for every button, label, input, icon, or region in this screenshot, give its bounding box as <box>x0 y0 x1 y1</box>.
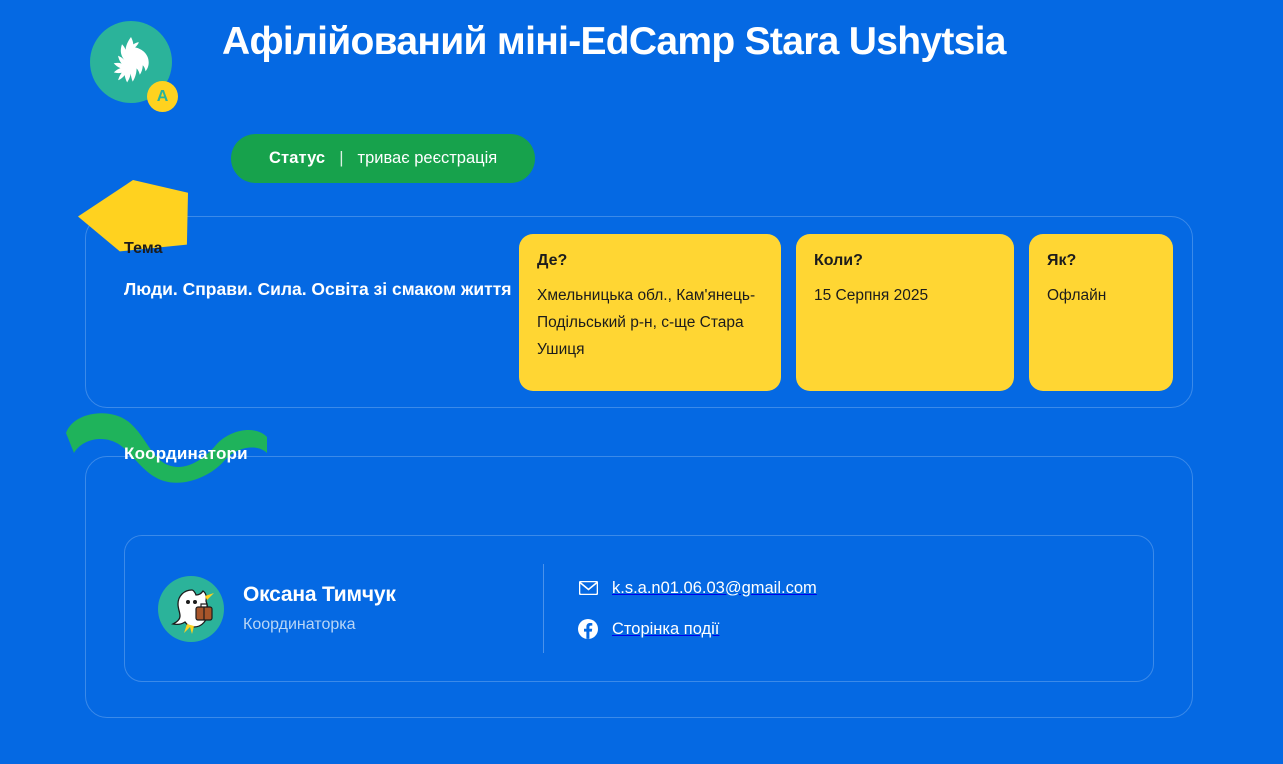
info-card-where: Де? Хмельницька обл., Кам'янець-Подільсь… <box>519 234 781 391</box>
coordinator-card: Оксана Тимчук Координаторка k.s.a.n01.06… <box>124 535 1154 682</box>
edcamp-logo: A <box>90 21 178 109</box>
facebook-icon <box>578 619 598 639</box>
status-badge[interactable]: Статус | триває реєстрація <box>231 134 535 183</box>
coordinator-facebook-text: Сторінка події <box>612 620 719 639</box>
envelope-icon <box>578 578 598 598</box>
bird-with-briefcase-avatar-icon <box>162 580 220 638</box>
info-card-when: Коли? 15 Серпня 2025 <box>796 234 1014 391</box>
affiliated-badge: A <box>147 81 178 112</box>
coordinators-heading: Координатори <box>124 444 248 464</box>
edcamp-sprout-logo-icon <box>105 34 157 90</box>
coordinator-identity: Оксана Тимчук Координаторка <box>243 583 543 634</box>
theme-text: Люди. Справи. Сила. Освіта зі смаком жит… <box>124 275 544 303</box>
info-card-question: Де? <box>537 252 763 270</box>
coordinator-name: Оксана Тимчук <box>243 583 543 607</box>
coordinator-email-link[interactable]: k.s.a.n01.06.03@gmail.com <box>578 578 817 598</box>
coordinator-role: Координаторка <box>243 616 543 634</box>
coordinator-contacts: k.s.a.n01.06.03@gmail.com Сторінка події <box>578 578 817 639</box>
theme-block: Тема Люди. Справи. Сила. Освіта зі смако… <box>124 240 544 303</box>
coordinators-panel: Координатори Оксана Тимчук Координаторка <box>85 456 1193 718</box>
info-card-how: Як? Офлайн <box>1029 234 1173 391</box>
theme-label: Тема <box>124 240 544 258</box>
status-row: Статус | триває реєстрація <box>0 109 1283 183</box>
card-divider <box>543 564 544 653</box>
info-card-list: Де? Хмельницька обл., Кам'янець-Подільсь… <box>519 234 1173 391</box>
info-card-answer: Хмельницька обл., Кам'янець-Подільський … <box>537 282 763 363</box>
info-card-answer: 15 Серпня 2025 <box>814 282 996 309</box>
page-header: A Афілійований міні-EdCamp Stara Ushytsi… <box>0 0 1283 109</box>
status-value-label: триває реєстрація <box>358 149 498 168</box>
coordinator-facebook-link[interactable]: Сторінка події <box>578 619 817 639</box>
status-separator: | <box>339 149 343 168</box>
info-card-question: Коли? <box>814 252 996 270</box>
event-info-panel: Тема Люди. Справи. Сила. Освіта зі смако… <box>85 216 1193 408</box>
avatar <box>158 576 224 642</box>
info-card-question: Як? <box>1047 252 1155 270</box>
page-title: Афілійований міні-EdCamp Stara Ushytsia <box>222 12 1006 66</box>
info-card-answer: Офлайн <box>1047 282 1155 309</box>
coordinator-email-text: k.s.a.n01.06.03@gmail.com <box>612 579 817 598</box>
status-key-label: Статус <box>269 149 325 168</box>
